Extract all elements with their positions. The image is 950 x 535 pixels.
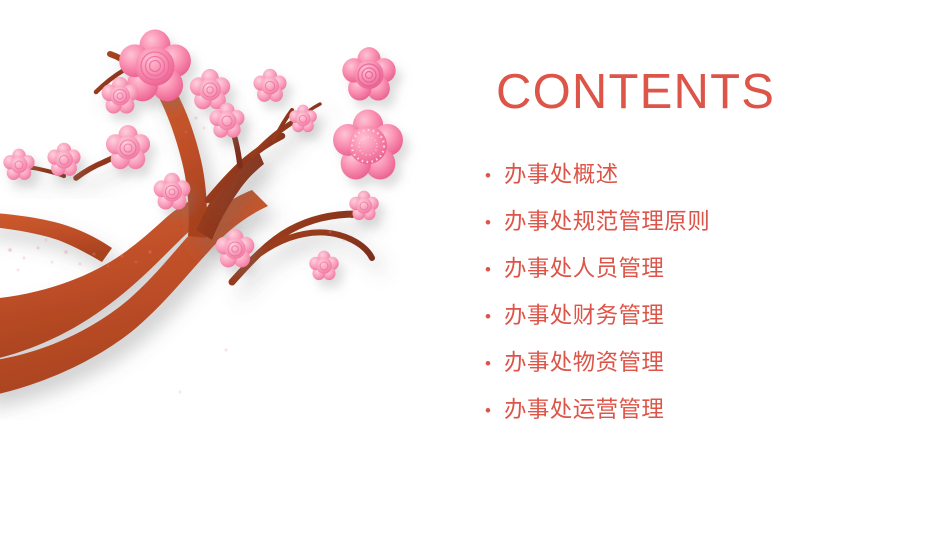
blossom-middle-stem <box>210 103 245 138</box>
bullet-icon: • <box>482 261 504 278</box>
cherry-blossom-tree-illustration <box>0 0 460 420</box>
bullet-icon: • <box>482 355 504 372</box>
bullet-icon: • <box>482 308 504 325</box>
blossom-right-branch-end <box>349 191 378 220</box>
blossom-large-top <box>119 30 191 102</box>
tree-trunk <box>0 190 268 398</box>
toc-item-label: 办事处财务管理 <box>504 305 664 328</box>
floating-blossom-upper <box>342 47 395 100</box>
tree-branches-left <box>6 152 122 178</box>
floating-blossom-lower <box>333 110 403 180</box>
blossom-mid-left <box>106 125 150 169</box>
toc-item-label: 办事处物资管理 <box>504 352 664 375</box>
toc-item[interactable]: •办事处概述 <box>482 152 942 199</box>
floating-blossom-group <box>333 47 403 179</box>
toc-item[interactable]: •办事处物资管理 <box>482 340 942 387</box>
toc-item-label: 办事处人员管理 <box>504 258 664 281</box>
toc-item[interactable]: •办事处财务管理 <box>482 293 942 340</box>
blossom-small-a <box>102 77 139 114</box>
table-of-contents-list: •办事处概述•办事处规范管理原则•办事处人员管理•办事处财务管理•办事处物资管理… <box>482 152 942 434</box>
tree-main-limb <box>156 84 264 240</box>
blossom-upper-middle <box>190 69 230 109</box>
tree-branches-upper <box>96 54 320 200</box>
bullet-icon: • <box>482 214 504 231</box>
bullet-icon: • <box>482 402 504 419</box>
bullet-icon: • <box>482 167 504 184</box>
toc-item-label: 办事处概述 <box>504 164 619 187</box>
slide-canvas: CONTENTS •办事处概述•办事处规范管理原则•办事处人员管理•办事处财务管… <box>0 0 950 535</box>
toc-item-label: 办事处运营管理 <box>504 399 664 422</box>
blossom-group <box>3 30 378 281</box>
contents-panel: CONTENTS •办事处概述•办事处规范管理原则•办事处人员管理•办事处财务管… <box>470 0 950 535</box>
toc-item[interactable]: •办事处运营管理 <box>482 387 942 434</box>
petal-speckles <box>8 117 345 393</box>
blossom-limb-junction <box>154 173 191 210</box>
toc-item[interactable]: •办事处人员管理 <box>482 246 942 293</box>
blossom-small-leftmid <box>47 143 80 176</box>
blossom-lower-branch-tip <box>309 251 338 280</box>
blossom-upper-right <box>253 69 286 102</box>
tree-branch-right <box>232 210 372 282</box>
page-title: CONTENTS <box>496 68 775 117</box>
toc-item[interactable]: •办事处规范管理原则 <box>482 199 942 246</box>
blossom-tiny-upperright <box>289 105 317 133</box>
blossom-small-farleft <box>3 149 34 180</box>
toc-item-label: 办事处规范管理原则 <box>504 211 710 234</box>
blossom-lower-branch-base <box>216 229 255 268</box>
